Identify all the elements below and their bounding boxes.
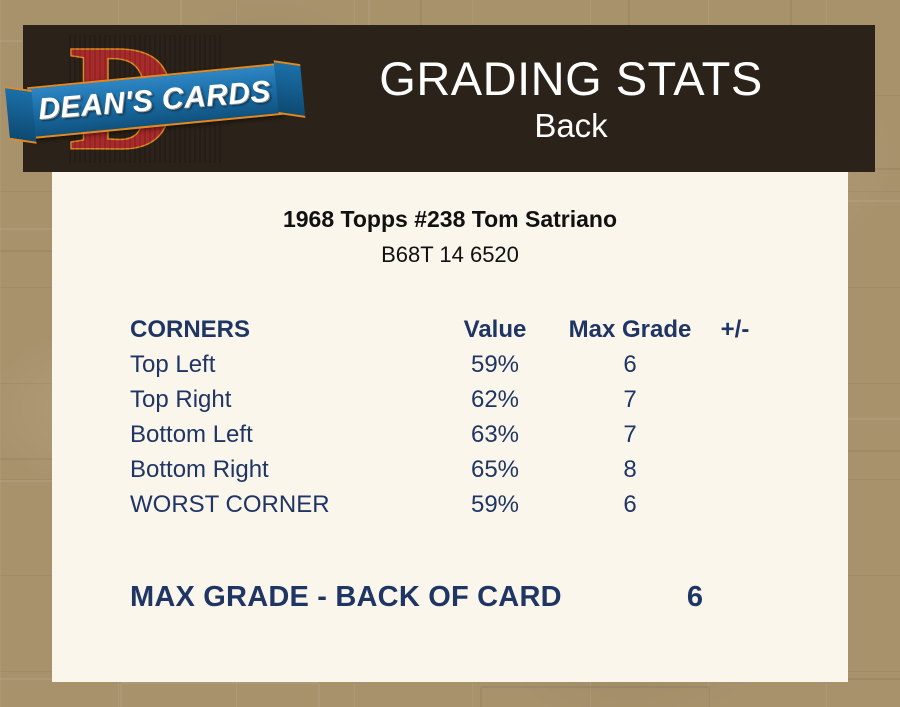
table-row: WORST CORNER59%6 — [130, 487, 770, 522]
corner-label: Top Right — [130, 382, 430, 417]
logo-ribbon-tail-left — [5, 86, 37, 144]
corners-table: CORNERS Value Max Grade +/- Top Left59%6… — [130, 312, 770, 522]
deans-cards-logo[interactable]: D DEAN'S CARDS — [23, 25, 285, 172]
stats-panel: 1968 Topps #238 Tom Satriano B68T 14 652… — [52, 172, 848, 682]
corner-plus-minus — [700, 347, 770, 382]
page-title: GRADING STATS — [285, 52, 857, 106]
corner-plus-minus — [700, 417, 770, 452]
corner-label: WORST CORNER — [130, 487, 430, 522]
max-grade-value: 6 — [620, 578, 770, 616]
max-grade-label: MAX GRADE - BACK OF CARD — [130, 578, 562, 616]
corner-value: 62% — [430, 382, 560, 417]
corner-plus-minus — [700, 452, 770, 487]
corner-value: 59% — [430, 347, 560, 382]
card-title: 1968 Topps #238 Tom Satriano — [52, 204, 848, 234]
corner-label: Bottom Left — [130, 417, 430, 452]
column-header-max-grade: Max Grade — [560, 312, 700, 347]
corner-max-grade: 7 — [560, 382, 700, 417]
column-header-plus-minus: +/- — [700, 312, 770, 347]
table-body: Top Left59%6Top Right62%7Bottom Left63%7… — [130, 347, 770, 522]
header-bar: D DEAN'S CARDS GRADING STATS Back — [23, 25, 875, 172]
corner-max-grade: 8 — [560, 452, 700, 487]
max-grade-summary: MAX GRADE - BACK OF CARD 6 — [130, 578, 770, 616]
page-subtitle: Back — [285, 106, 857, 146]
corner-plus-minus — [700, 382, 770, 417]
corner-value: 63% — [430, 417, 560, 452]
corner-value: 59% — [430, 487, 560, 522]
corner-plus-minus — [700, 487, 770, 522]
corner-max-grade: 6 — [560, 487, 700, 522]
table-row: Top Left59%6 — [130, 347, 770, 382]
corner-max-grade: 7 — [560, 417, 700, 452]
corner-label: Bottom Right — [130, 452, 430, 487]
corner-value: 65% — [430, 452, 560, 487]
table-row: Bottom Right65%8 — [130, 452, 770, 487]
header-titles: GRADING STATS Back — [285, 52, 875, 146]
column-header-value: Value — [430, 312, 560, 347]
table-header-row: CORNERS Value Max Grade +/- — [130, 312, 770, 347]
corner-label: Top Left — [130, 347, 430, 382]
card-code: B68T 14 6520 — [52, 240, 848, 270]
table-row: Bottom Left63%7 — [130, 417, 770, 452]
logo-wordmark: DEAN'S CARDS — [37, 75, 272, 127]
column-header-corners: CORNERS — [130, 312, 430, 347]
corner-max-grade: 6 — [560, 347, 700, 382]
logo-ribbon-tail-right — [274, 60, 306, 118]
table-row: Top Right62%7 — [130, 382, 770, 417]
